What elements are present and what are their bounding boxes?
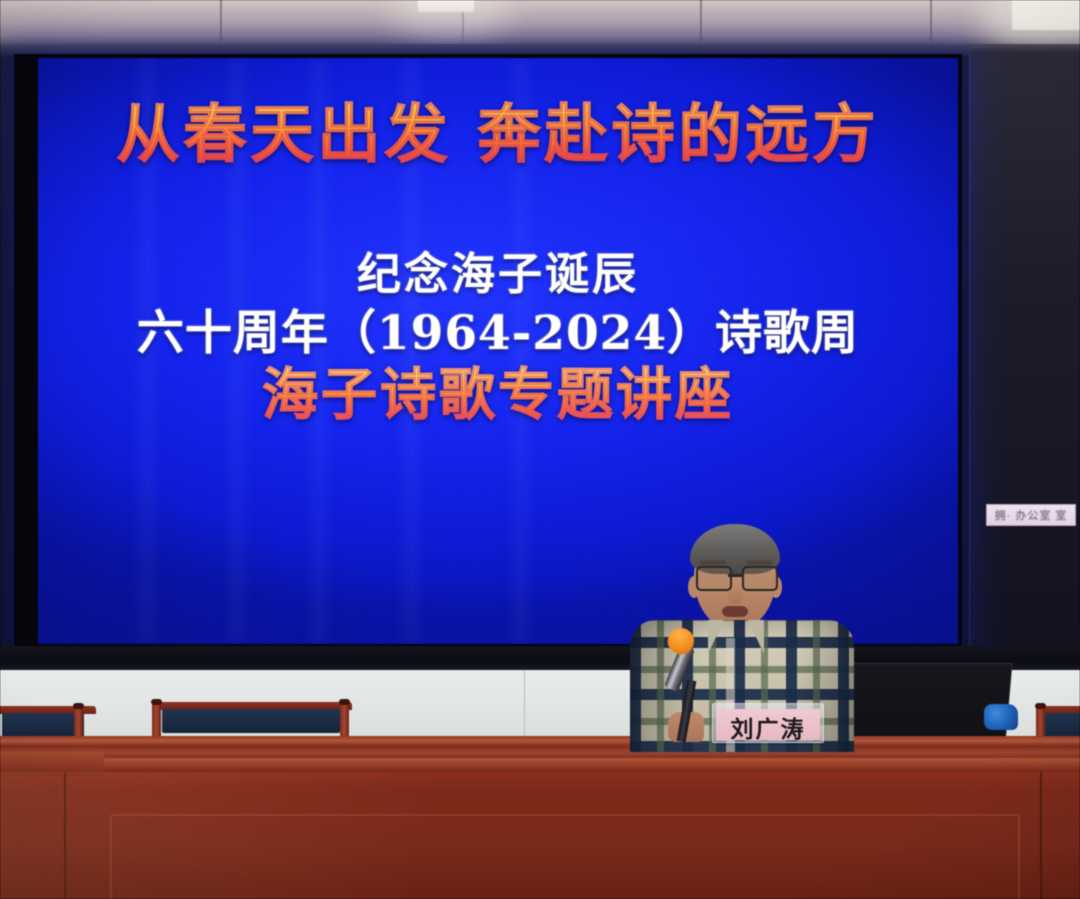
- glasses-lens-left: [696, 566, 732, 591]
- blue-bag-object: [984, 704, 1018, 730]
- chair-cushion: [162, 709, 340, 733]
- wall-sign: 拥· 办公室 室: [986, 504, 1076, 526]
- table-left-return: [0, 752, 104, 776]
- chair-post-cap: [339, 699, 350, 705]
- chair-post-cap: [1035, 703, 1046, 709]
- ceiling-light-panel: [1012, 0, 1080, 30]
- eyebrow-right: [746, 560, 772, 565]
- lecture-hall-photo: 从春天出发 奔赴诗的远方 纪念海子诞辰 六十周年（1964-2024）诗歌周 海…: [0, 0, 1080, 899]
- conference-table-front-panel: [0, 772, 1080, 899]
- shirt-collar-right: [748, 620, 764, 654]
- chair-post: [340, 702, 349, 738]
- chair-cushion: [2, 713, 84, 737]
- table-panel-seam: [64, 772, 66, 899]
- ceiling-light-panel: [418, 0, 474, 12]
- eyebrow-left: [700, 560, 726, 565]
- led-screen: 从春天出发 奔赴诗的远方 纪念海子诞辰 六十周年（1964-2024）诗歌周 海…: [38, 58, 958, 644]
- ceiling-seam: [220, 0, 222, 44]
- right-wall-panel: [969, 52, 1080, 652]
- slide-subtitle-line-1: 纪念海子诞辰: [38, 238, 958, 302]
- laptop: [835, 663, 1013, 742]
- chair-post-cap: [151, 699, 162, 705]
- ceiling-seam: [930, 0, 932, 44]
- wall-sign-text: 拥· 办公室 室: [995, 507, 1068, 523]
- chair-post-cap: [73, 703, 84, 709]
- nameplate-card: 刘广涛: [716, 709, 820, 740]
- table-panel-seam: [1040, 772, 1042, 899]
- glasses-bridge: [728, 574, 742, 577]
- nameplate-holder: 刘广涛: [712, 703, 824, 743]
- ceiling-seam: [700, 0, 702, 44]
- slide-title: 从春天出发 奔赴诗的远方: [38, 84, 958, 175]
- chair-post: [152, 702, 161, 738]
- ceiling: [0, 0, 1080, 50]
- slide-subtitle-line-3: 海子诗歌专题讲座: [38, 350, 958, 431]
- nameplate-text: 刘广涛: [731, 710, 806, 741]
- mouth: [722, 606, 748, 617]
- glasses-lens-right: [742, 566, 778, 591]
- shirt-collar-left: [708, 620, 724, 654]
- eyeglasses: [696, 566, 776, 588]
- chair-cushion: [1042, 713, 1080, 737]
